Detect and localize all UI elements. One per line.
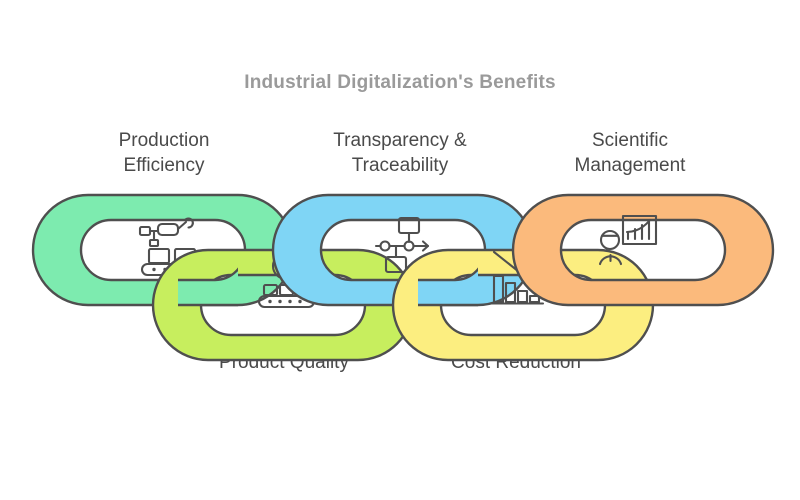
infographic-canvas: Industrial Digitalization's Benefits Pro…	[0, 0, 800, 500]
chain-link-scientific-management[interactable]	[513, 195, 773, 305]
presenter-growth-chart-icon	[600, 216, 656, 264]
chain-diagram	[0, 0, 800, 500]
